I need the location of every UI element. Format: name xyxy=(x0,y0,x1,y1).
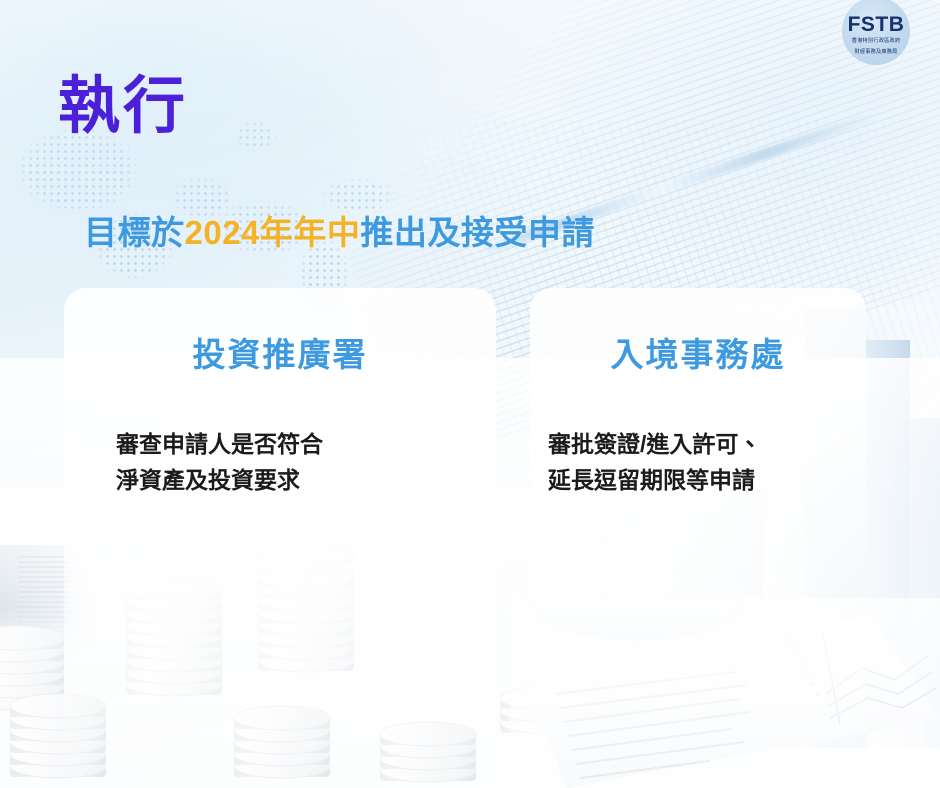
panel-immigration-line-2: 延長逗留期限等申請 xyxy=(548,462,866,498)
panel-immigration-heading: 入境事務處 xyxy=(530,328,866,376)
panel-investhk-line-1: 審查申請人是否符合 xyxy=(116,426,496,462)
panel-investhk-line-2: 淨資產及投資要求 xyxy=(116,462,496,498)
subtitle-highlight: 2024年年中 xyxy=(185,214,361,251)
panel-immigration: 入境事務處 審批簽證/進入許可、 延長逗留期限等申請 xyxy=(530,288,866,788)
panel-immigration-body: 審批簽證/進入許可、 延長逗留期限等申請 xyxy=(530,426,866,499)
distant-building-windows-decor xyxy=(18,556,70,664)
subtitle-lead: 目標於 xyxy=(84,214,185,251)
panel-investhk-heading: 投資推廣署 xyxy=(64,328,496,376)
logo-acronym: FSTB xyxy=(848,14,905,35)
panel-investhk-body: 審查申請人是否符合 淨資產及投資要求 xyxy=(64,426,496,499)
slide-subtitle: 目標於2024年年中推出及接受申請 xyxy=(84,206,595,254)
panel-immigration-line-1: 審批簽證/進入許可、 xyxy=(548,426,866,462)
logo-chinese-line-1: 香港特別行政區政府 xyxy=(852,38,901,45)
logo-chinese-line-2: 財經事務及庫務局 xyxy=(854,49,897,56)
top-white-veil xyxy=(0,0,940,300)
fstb-logo: FSTB 香港特別行政區政府 財經事務及庫務局 xyxy=(834,9,918,61)
slide-canvas: FSTB 香港特別行政區政府 財經事務及庫務局 執行 目標於2024年年中推出及… xyxy=(0,0,940,788)
panel-investhk: 投資推廣署 審查申請人是否符合 淨資產及投資要求 xyxy=(64,288,496,788)
slide-title: 執行 xyxy=(58,76,188,138)
subtitle-tail: 推出及接受申請 xyxy=(360,214,595,251)
